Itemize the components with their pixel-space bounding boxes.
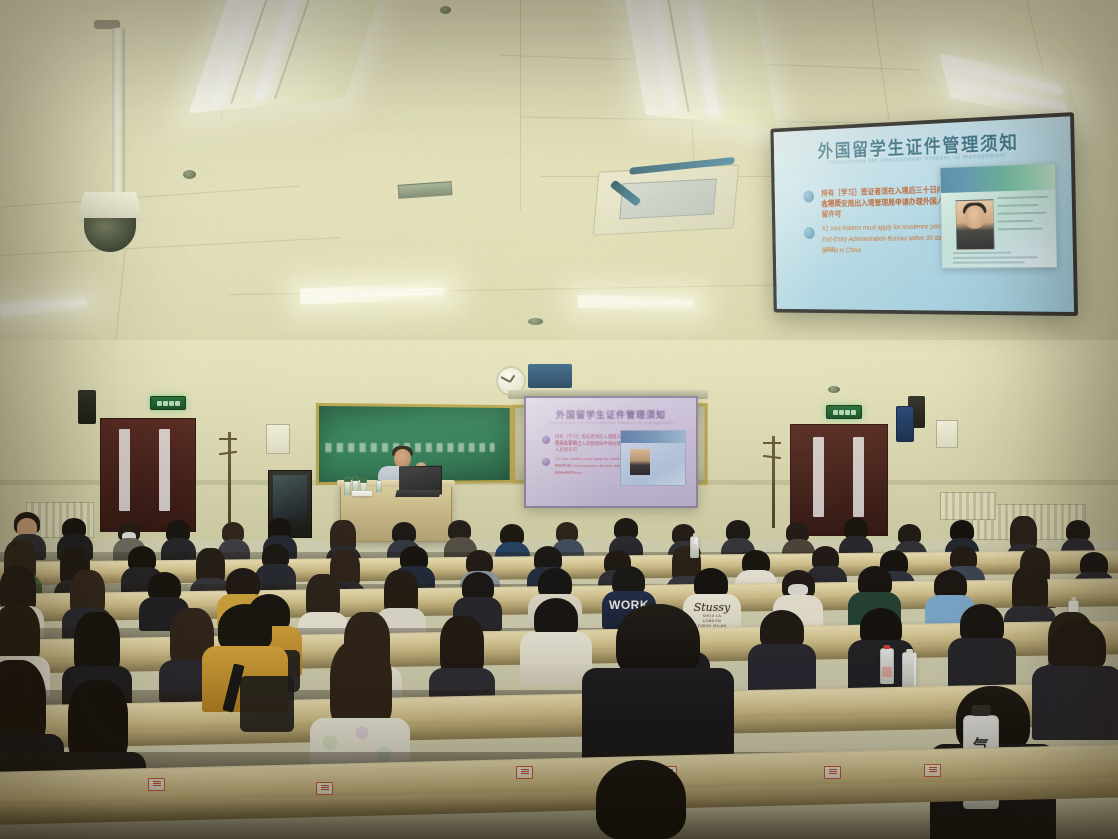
water-bottle[interactable] bbox=[880, 648, 894, 684]
bullet-dot-icon bbox=[803, 190, 814, 202]
cabinet-glass bbox=[273, 475, 307, 519]
ceiling-light-fixture bbox=[300, 283, 450, 304]
slide-bullet-en-1: X1 visa holders must apply for residence… bbox=[822, 222, 955, 234]
door-rear-right[interactable] bbox=[790, 424, 888, 536]
podium-bottle bbox=[376, 480, 382, 493]
slide-bullet-cn-2: 在地公安局出入境管理局申请办理外国人居留许可 bbox=[821, 195, 956, 219]
backpack bbox=[240, 676, 294, 732]
camera-pole bbox=[112, 28, 125, 198]
door-glass bbox=[853, 437, 864, 517]
smoke-detector bbox=[828, 386, 840, 393]
smoke-detector bbox=[183, 170, 196, 179]
permit-photo bbox=[955, 199, 994, 250]
wall-notice bbox=[266, 424, 290, 454]
residence-permit-card bbox=[940, 163, 1058, 269]
seat-number-sticker bbox=[516, 766, 533, 779]
ceiling-light-fixture bbox=[189, 0, 386, 114]
wall-speaker-left bbox=[78, 390, 96, 424]
bullet-dot-icon bbox=[804, 227, 815, 239]
exit-sign-right bbox=[826, 405, 862, 419]
door-glass bbox=[813, 437, 824, 517]
projection-screen: 外国留学生证件管理须知 Instructions for Internation… bbox=[524, 396, 698, 508]
clock-minute-hand bbox=[501, 377, 511, 383]
seat-number-sticker bbox=[924, 764, 941, 777]
bottle-cap bbox=[971, 705, 990, 716]
exit-sign-left bbox=[150, 396, 186, 410]
ceiling-light-fixture bbox=[0, 296, 90, 317]
led-wall-display: 外国留学生证件管理须知 Instructions for Internation… bbox=[770, 112, 1078, 316]
wall-vent bbox=[398, 181, 453, 199]
seat-number-sticker bbox=[316, 782, 333, 795]
slide: 外国留学生证件管理须知 Instructions for Internation… bbox=[774, 116, 1075, 312]
slide-bullet-en-3: arrival in China bbox=[822, 247, 861, 257]
laptop-keyboard[interactable] bbox=[395, 490, 441, 497]
radiator-rear bbox=[940, 492, 996, 520]
slide-bullets: 持有［学习］签证者须在入境后三十日内向大学所 在地公安局出入境管理局申请办理外国… bbox=[803, 184, 956, 189]
door-glass bbox=[159, 429, 170, 511]
wall-notice bbox=[936, 420, 958, 448]
clock-hour-hand bbox=[509, 375, 515, 383]
door-glass bbox=[119, 429, 130, 511]
ac-louver bbox=[629, 157, 734, 175]
water-bottle[interactable] bbox=[690, 536, 699, 558]
ceiling-fitting bbox=[528, 318, 543, 325]
water-bottle[interactable] bbox=[902, 652, 917, 690]
wall-display-panel bbox=[528, 364, 572, 388]
screen-glare bbox=[526, 398, 696, 506]
ceiling-light-fixture bbox=[578, 295, 698, 310]
lecture-hall-photo: 外国留学生证件管理须知 Instructions for Internation… bbox=[0, 0, 1118, 839]
ceiling-light-fixture bbox=[623, 0, 777, 128]
door-rear-left[interactable] bbox=[100, 418, 196, 532]
permit-photo-face bbox=[965, 205, 985, 229]
hoodie-brand-text: Stussy bbox=[683, 601, 741, 614]
smoke-detector bbox=[440, 6, 451, 14]
podium-papers bbox=[352, 491, 372, 496]
seat-number-sticker bbox=[824, 766, 841, 779]
wall-info-sign bbox=[896, 406, 914, 442]
camera-dome-icon bbox=[84, 218, 136, 252]
permit-card-header bbox=[941, 164, 1056, 193]
seat-number-sticker bbox=[148, 778, 165, 791]
ceiling-ac-unit bbox=[593, 164, 739, 235]
